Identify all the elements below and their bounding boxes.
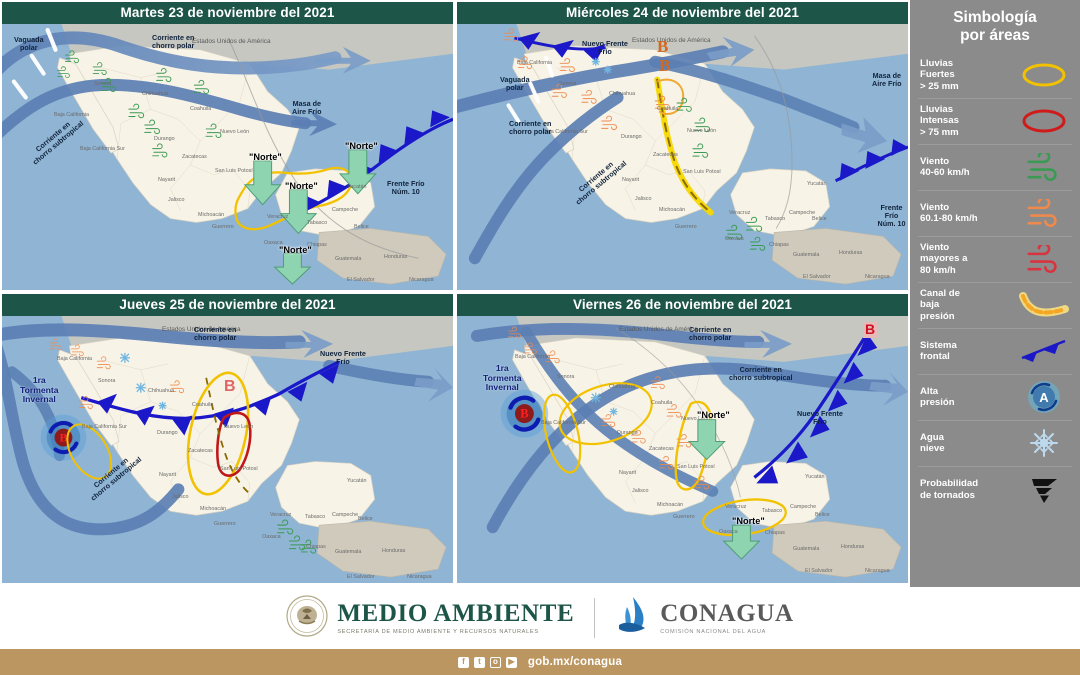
panel-viernes[interactable]: Viernes 26 de noviembre del 2021 (455, 292, 910, 585)
svg-text:B: B (520, 407, 528, 421)
brand-text-conagua: CONAGUA COMISIÓN NACIONAL DEL AGUA (660, 601, 793, 635)
brand-name: CONAGUA (660, 601, 793, 626)
panel-miercoles[interactable]: Miércoles 24 de noviembre del 2021 (455, 0, 910, 292)
brand-name: MEDIO AMBIENTE (337, 601, 574, 626)
panel-title-viernes: Viernes 26 de noviembre del 2021 (457, 294, 908, 316)
legend-item-alta-presion[interactable]: Alta presión A (918, 375, 1072, 421)
instagram-icon[interactable]: o (490, 657, 501, 668)
panel-jueves[interactable]: Jueves 25 de noviembre del 2021 (0, 292, 455, 585)
svg-text:B: B (59, 431, 67, 445)
legend-item-sistema-frontal[interactable]: Sistema frontal (918, 329, 1072, 375)
legend-label: Agua nieve (918, 432, 1016, 455)
legend-item-viento-mayor-80[interactable]: Viento mayores a 80 km/h (918, 237, 1072, 283)
yellow-ellipse-icon (1016, 56, 1072, 94)
brand-subtitle: SECRETARÍA DE MEDIO AMBIENTE Y RECURSOS … (337, 629, 574, 635)
map-martes[interactable]: Vaguada polarCorriente en chorro polarCo… (2, 24, 453, 290)
sleet-snowflake-icon (1016, 424, 1072, 462)
brand-text-medio-ambiente: MEDIO AMBIENTE SECRETARÍA DE MEDIO AMBIE… (337, 601, 574, 635)
infographic-root: Martes 23 de noviembre del 2021 (0, 0, 1080, 675)
svg-text:A: A (1039, 390, 1049, 405)
legend-label: Lluvias Intensas > 75 mm (918, 104, 1016, 138)
legend-item-lluvias-intensas[interactable]: Lluvias Intensas > 75 mm (918, 99, 1072, 145)
footer-url[interactable]: gob.mx/conagua (528, 656, 622, 668)
twitter-icon[interactable]: t (474, 657, 485, 668)
panel-title-martes: Martes 23 de noviembre del 2021 (2, 2, 453, 24)
low-pressure-trough-icon (1016, 286, 1072, 324)
map-jueves[interactable]: B (2, 316, 453, 583)
forecast-panels-grid: Martes 23 de noviembre del 2021 (0, 0, 910, 587)
map-miercoles[interactable]: Nuevo Frente FríoVaguada polarCorriente … (457, 24, 908, 290)
high-pressure-icon: A (1016, 378, 1072, 416)
panel-martes[interactable]: Martes 23 de noviembre del 2021 (0, 0, 455, 292)
legend-sidebar: Simbología por áreas Lluvias Fuertes > 2… (910, 0, 1080, 587)
legend-label: Alta presión (918, 386, 1016, 409)
youtube-icon[interactable]: ▶ (506, 657, 517, 668)
cold-front-icon (1016, 332, 1072, 370)
legend-item-lluvias-fuertes[interactable]: Lluvias Fuertes > 25 mm (918, 53, 1072, 99)
green-wind-icon (1016, 148, 1072, 186)
map-viernes[interactable]: B (457, 316, 908, 583)
legend-label: Canal de baja presión (918, 288, 1016, 322)
legend-label: Viento 40-60 km/h (918, 156, 1016, 179)
brand-conagua: CONAGUA COMISIÓN NACIONAL DEL AGUA (615, 595, 793, 642)
brand-divider (594, 598, 595, 638)
legend-item-viento-60-80[interactable]: Viento 60.1-80 km/h (918, 191, 1072, 237)
tornado-icon (1016, 471, 1072, 509)
legend-title: Simbología por áreas (910, 6, 1080, 45)
social-links[interactable]: f t o ▶ (458, 657, 517, 668)
footer: MEDIO AMBIENTE SECRETARÍA DE MEDIO AMBIE… (0, 587, 1080, 675)
legend-list: Lluvias Fuertes > 25 mm Lluvias Intensas… (910, 53, 1080, 513)
panel-title-miercoles: Miércoles 24 de noviembre del 2021 (457, 2, 908, 24)
legend-item-canal-baja-presion[interactable]: Canal de baja presión (918, 283, 1072, 329)
legend-item-viento-40-60[interactable]: Viento 40-60 km/h (918, 145, 1072, 191)
legend-label: Probabilidad de tornados (918, 478, 1016, 501)
facebook-icon[interactable]: f (458, 657, 469, 668)
conagua-water-logo-icon (615, 595, 651, 642)
legend-label: Sistema frontal (918, 340, 1016, 363)
panel-title-jueves: Jueves 25 de noviembre del 2021 (2, 294, 453, 316)
red-ellipse-icon (1016, 102, 1072, 140)
legend-label: Viento 60.1-80 km/h (918, 202, 1016, 225)
legend-label: Viento mayores a 80 km/h (918, 242, 1016, 276)
footer-logos: MEDIO AMBIENTE SECRETARÍA DE MEDIO AMBIE… (0, 587, 1080, 649)
orange-wind-icon (1016, 194, 1072, 232)
brand-medio-ambiente: MEDIO AMBIENTE SECRETARÍA DE MEDIO AMBIE… (286, 595, 574, 642)
mexico-coat-of-arms-icon (286, 595, 328, 642)
brand-subtitle: COMISIÓN NACIONAL DEL AGUA (660, 629, 793, 635)
footer-social-bar: f t o ▶ gob.mx/conagua (0, 649, 1080, 675)
legend-item-agua-nieve[interactable]: Agua nieve (918, 421, 1072, 467)
legend-item-probabilidad-tornados[interactable]: Probabilidad de tornados (918, 467, 1072, 513)
red-wind-icon (1016, 240, 1072, 278)
legend-label: Lluvias Fuertes > 25 mm (918, 58, 1016, 92)
